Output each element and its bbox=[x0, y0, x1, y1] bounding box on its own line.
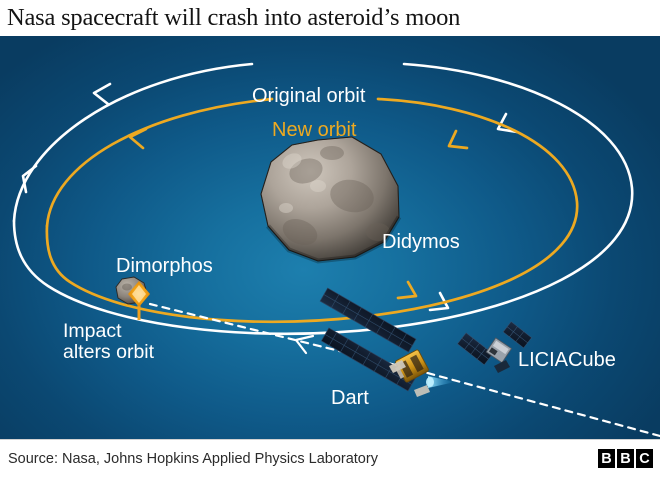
bbc-logo-letter-2: B bbox=[617, 449, 634, 468]
label-dart: Dart bbox=[331, 388, 369, 410]
page-title: Nasa spacecraft will crash into asteroid… bbox=[0, 6, 460, 31]
label-impact-line2: alters orbit bbox=[63, 342, 154, 363]
label-impact-line1: Impact bbox=[63, 321, 154, 342]
bbc-logo-letter-1: B bbox=[598, 449, 615, 468]
source-text: Source: Nasa, Johns Hopkins Applied Phys… bbox=[0, 451, 378, 467]
infographic: Nasa spacecraft will crash into asteroid… bbox=[0, 0, 660, 476]
diagram-stage: Original orbit New orbit Didymos Dimorph… bbox=[0, 36, 660, 439]
label-dimorphos: Dimorphos bbox=[116, 256, 213, 278]
bbc-logo: B B C bbox=[598, 449, 653, 468]
label-original-orbit: Original orbit bbox=[252, 86, 365, 108]
footer-bar: Source: Nasa, Johns Hopkins Applied Phys… bbox=[0, 439, 660, 477]
label-liciacube: LICIACube bbox=[518, 350, 616, 372]
title-bar: Nasa spacecraft will crash into asteroid… bbox=[0, 0, 660, 36]
label-didymos: Didymos bbox=[382, 232, 460, 254]
didymos-asteroid bbox=[261, 137, 399, 261]
bbc-logo-letter-3: C bbox=[636, 449, 653, 468]
label-impact-alters-orbit: Impact alters orbit bbox=[63, 321, 154, 363]
label-new-orbit: New orbit bbox=[272, 120, 356, 142]
